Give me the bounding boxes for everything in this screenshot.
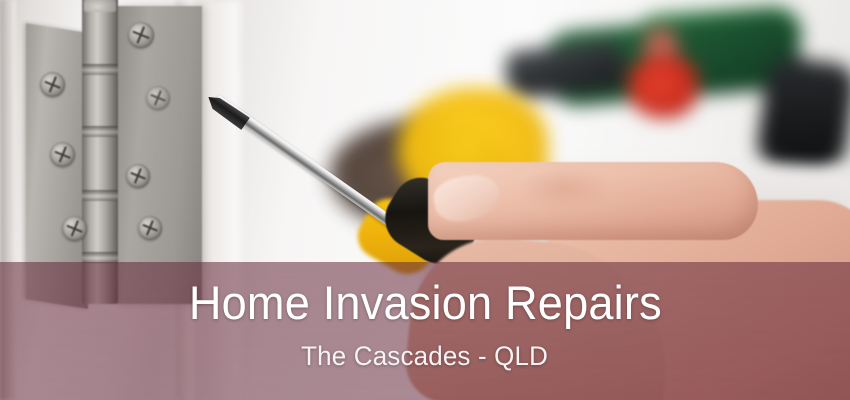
hero-banner: Home Invasion Repairs The Cascades - QLD bbox=[0, 0, 850, 400]
drill-accent bbox=[628, 56, 698, 118]
hinge-screw bbox=[50, 142, 75, 167]
hinge-screw bbox=[138, 216, 162, 240]
hinge-screw bbox=[62, 216, 87, 241]
hinge-knuckle-ring bbox=[82, 64, 118, 75]
hinge-pin-cap bbox=[84, 0, 116, 12]
page-title: Home Invasion Repairs bbox=[188, 262, 661, 329]
hinge-screw bbox=[40, 72, 65, 97]
hinge-knuckle-ring bbox=[82, 190, 118, 201]
hinge-knuckle-ring bbox=[82, 126, 118, 137]
banner-text-block: Home Invasion Repairs The Cascades - QLD bbox=[0, 262, 850, 400]
hinge-screw bbox=[126, 164, 150, 188]
hinge-screw bbox=[128, 22, 154, 48]
door-hinge bbox=[16, 0, 202, 304]
hinge-screw bbox=[146, 86, 170, 110]
screwdriver-tip bbox=[204, 91, 250, 130]
page-subtitle: The Cascades - QLD bbox=[302, 329, 549, 371]
finger-knuckle bbox=[520, 168, 610, 208]
hinge-leaf-right bbox=[116, 6, 202, 304]
